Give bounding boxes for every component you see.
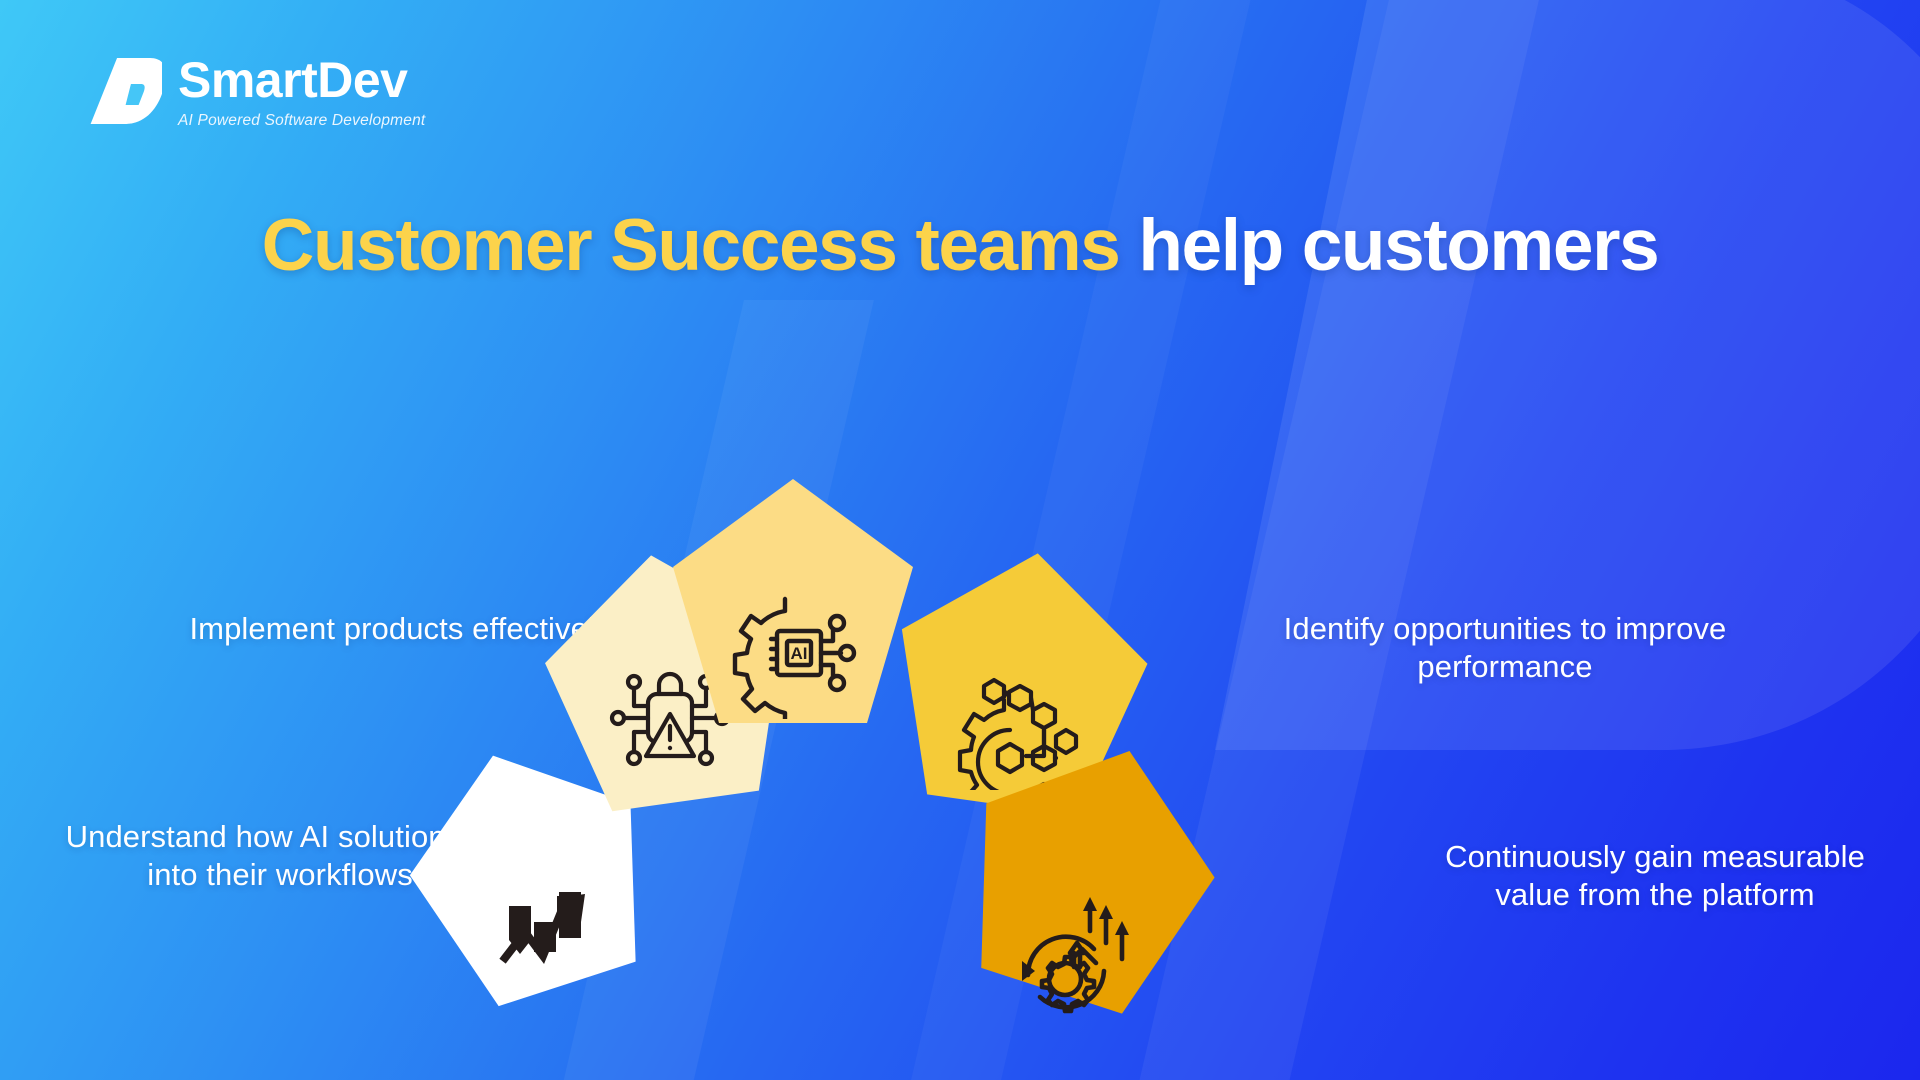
pentagon-diagram: AI bbox=[490, 560, 1440, 1080]
gear-growth-arrows-icon bbox=[995, 890, 1145, 1030]
ai-chip-gear-icon: AI bbox=[718, 580, 868, 730]
brand-logo[interactable]: SmartDev AI Powered Software Development bbox=[88, 52, 425, 132]
brand-tagline: AI Powered Software Development bbox=[178, 112, 425, 130]
bar-chart-growth-icon bbox=[484, 885, 594, 995]
brand-wordmark: SmartDev bbox=[178, 55, 425, 105]
page-title: Customer Success teams help customers bbox=[0, 208, 1920, 285]
smartdev-d-mark-icon bbox=[88, 52, 162, 132]
caption-measurable-value: Continuously gain measurable value from … bbox=[1430, 838, 1880, 914]
headline-rest: help customers bbox=[1138, 205, 1658, 286]
slide-canvas: SmartDev AI Powered Software Development… bbox=[0, 0, 1920, 1080]
svg-text:AI: AI bbox=[791, 644, 808, 663]
headline-highlight: Customer Success teams bbox=[262, 205, 1120, 286]
